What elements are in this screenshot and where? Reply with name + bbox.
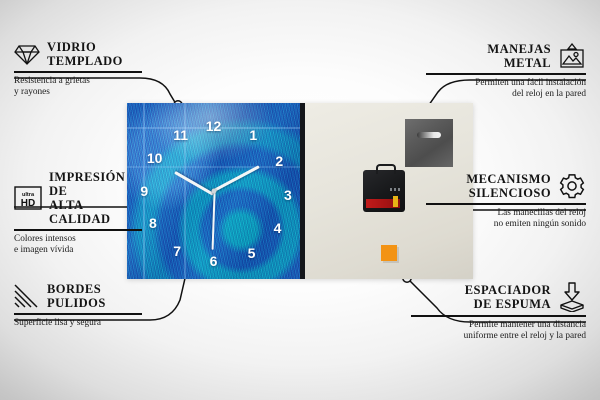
clock-numeral-11: 11 bbox=[173, 128, 188, 142]
feature-rule bbox=[14, 71, 142, 73]
feature-rule bbox=[426, 203, 586, 205]
clock-face: 12 1 2 3 4 5 6 7 8 9 10 11 bbox=[127, 103, 300, 279]
feature-title: MANEJAS METAL bbox=[487, 42, 551, 70]
mechanism-hook bbox=[376, 164, 396, 174]
clock-numeral-6: 6 bbox=[210, 254, 218, 268]
ultra-hd-icon-main: HD bbox=[21, 198, 35, 209]
battery-terminal bbox=[393, 196, 398, 207]
feature-rule bbox=[411, 315, 586, 317]
feature-title: ESPACIADOR DE ESPUMA bbox=[465, 283, 551, 311]
clock-numeral-12: 12 bbox=[206, 119, 222, 133]
feature-description: Permiten una fácil instalación del reloj… bbox=[426, 78, 586, 100]
feature-description: Las manecillas del reloj no emiten ningú… bbox=[426, 208, 586, 230]
clock-numeral-10: 10 bbox=[147, 151, 163, 165]
ultra-hd-icon: ultra HD bbox=[14, 186, 42, 210]
feature-impresion-alta-calidad: ultra HD IMPRESIÓN DE ALTA CALIDAD Color… bbox=[14, 170, 142, 256]
clock-numeral-8: 8 bbox=[149, 216, 157, 230]
gear-icon bbox=[558, 173, 586, 199]
feature-mecanismo-silencioso: MECANISMO SILENCIOSO Las manecillas del … bbox=[426, 172, 586, 230]
wall-hanging-frame-icon bbox=[558, 43, 586, 69]
feature-description: Colores intensos e imagen vívida bbox=[14, 234, 142, 256]
hanger-slot bbox=[417, 132, 441, 138]
feature-title: VIDRIO TEMPLADO bbox=[47, 40, 123, 68]
infographic-canvas: 12 1 2 3 4 5 6 7 8 9 10 11 bbox=[0, 0, 600, 400]
foam-spacer-arrow-icon bbox=[558, 282, 586, 312]
feature-rule bbox=[426, 73, 586, 75]
feature-description: Permite mantener una distancia uniforme … bbox=[411, 320, 586, 342]
feature-title: MECANISMO SILENCIOSO bbox=[466, 172, 551, 200]
clock-mechanism bbox=[363, 170, 405, 212]
feature-description: Superficie lisa y segura bbox=[14, 318, 142, 329]
clock-hub bbox=[211, 189, 216, 194]
battery-label bbox=[366, 199, 400, 208]
clock-numeral-2: 2 bbox=[275, 154, 283, 168]
clock-numeral-5: 5 bbox=[248, 246, 256, 260]
feature-bordes-pulidos: BORDES PULIDOS Superficie lisa y segura bbox=[14, 282, 142, 329]
feature-title: BORDES PULIDOS bbox=[47, 282, 106, 310]
clock-numeral-4: 4 bbox=[274, 221, 282, 235]
polished-edges-icon bbox=[14, 284, 40, 308]
feature-title: IMPRESIÓN DE ALTA CALIDAD bbox=[49, 170, 142, 226]
feature-espaciador-espuma: ESPACIADOR DE ESPUMA Permite mantener un… bbox=[411, 282, 586, 342]
clock-numeral-3: 3 bbox=[284, 188, 292, 202]
mechanism-label-dots bbox=[390, 188, 402, 191]
feature-vidrio-templado: VIDRIO TEMPLADO Resistencia a grietas y … bbox=[14, 40, 142, 98]
feature-rule bbox=[14, 313, 142, 315]
foam-spacer bbox=[381, 245, 397, 261]
clock-numeral-7: 7 bbox=[173, 244, 181, 258]
clock-numeral-1: 1 bbox=[249, 128, 257, 142]
product-photo: 12 1 2 3 4 5 6 7 8 9 10 11 bbox=[127, 103, 473, 279]
diamond-icon bbox=[14, 42, 40, 66]
feature-manejas-metal: MANEJAS METAL Permiten una fácil instala… bbox=[426, 42, 586, 100]
feature-description: Resistencia a grietas y rayones bbox=[14, 76, 142, 98]
feature-rule bbox=[14, 229, 142, 231]
metal-hanger-plate bbox=[405, 119, 453, 167]
